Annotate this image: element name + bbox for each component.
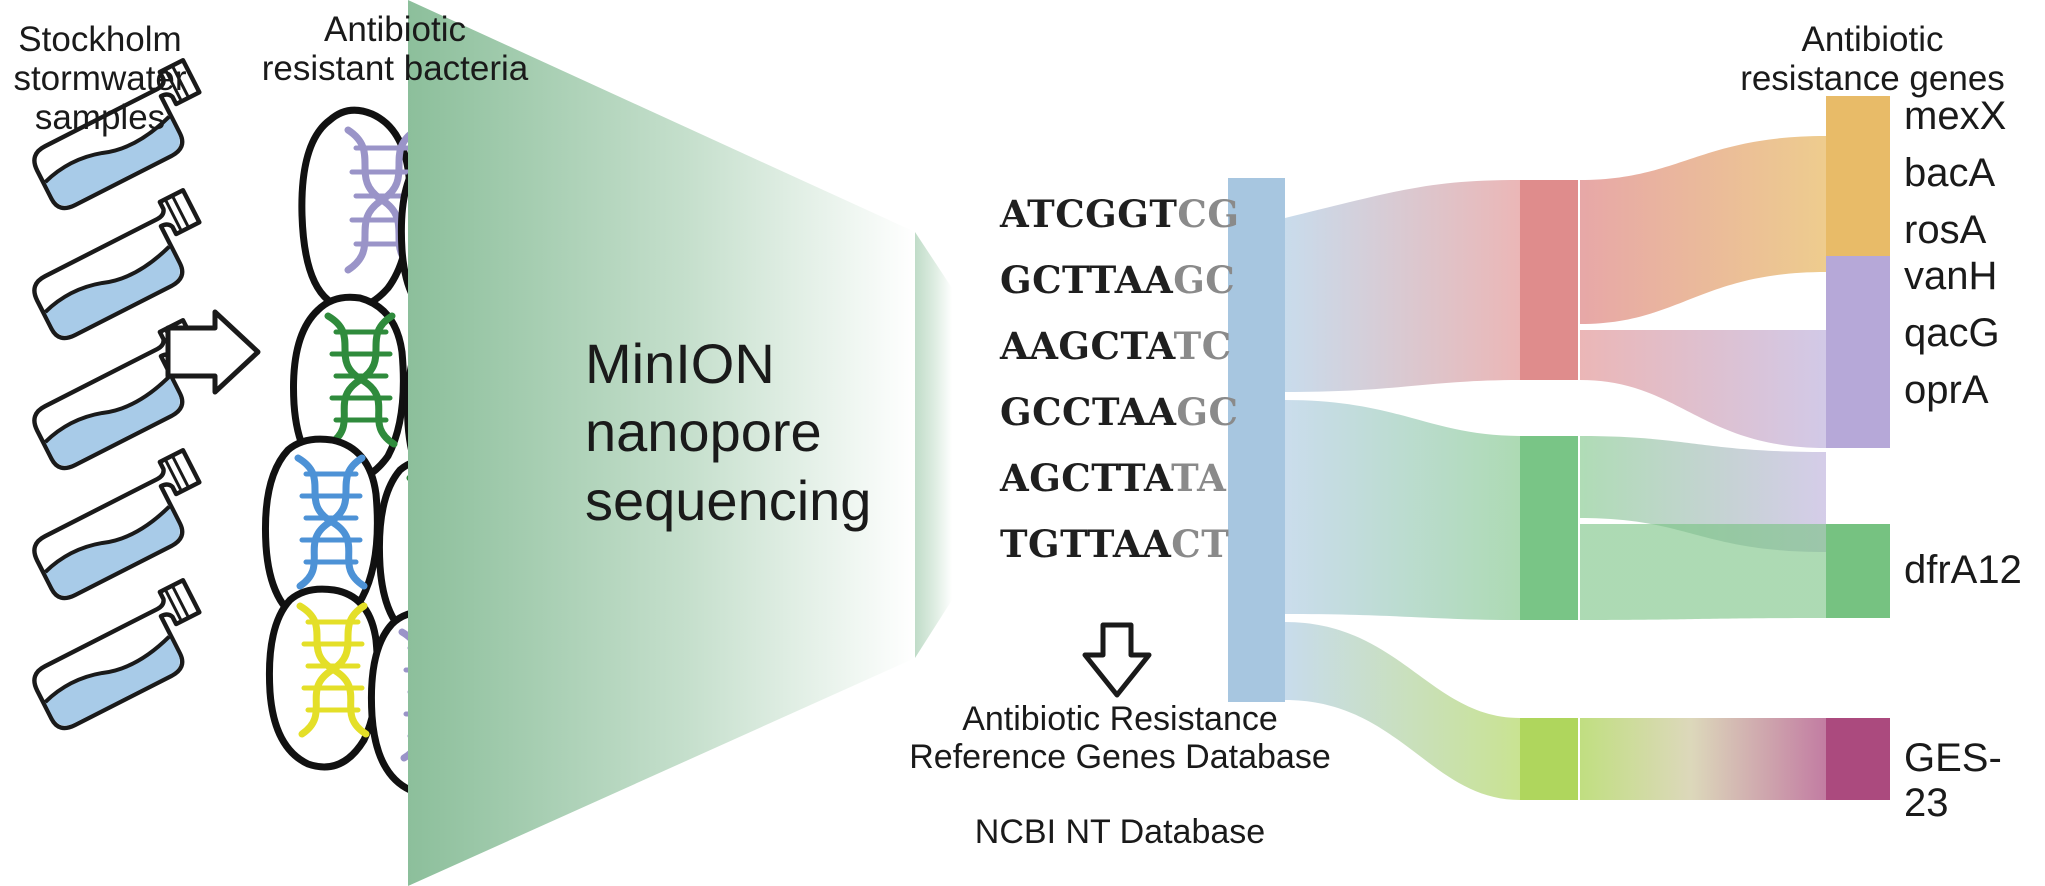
sequence-read-6: TGTTAACT [1000, 522, 1229, 566]
figure-canvas: Stockholm stormwater samples Antibiotic … [0, 0, 2045, 886]
sankey-target-node-vanH [1826, 256, 1890, 448]
database-arrow-icon [1085, 625, 1149, 695]
sankey-mid-node-yellowgreen [1520, 718, 1578, 800]
bottle-4 [23, 450, 220, 603]
read-unmatched-segment: TC [1174, 324, 1232, 368]
read-unmatched-segment: CT [1171, 522, 1229, 566]
read-matched-segment: TGTTAA [1000, 522, 1171, 566]
sequence-read-4: GCCTAAGC [1000, 390, 1238, 434]
sankey-source-node [1228, 178, 1285, 702]
read-matched-segment: GCCTAA [1000, 390, 1176, 434]
gene-GES-23-label: GES-23 [1904, 736, 2045, 826]
read-matched-segment: ATCGGT [1000, 192, 1177, 236]
sankey-mid-node-green [1520, 436, 1578, 620]
sequencer-label: MinION nanopore sequencing [585, 330, 915, 535]
bottle-5 [23, 580, 220, 733]
sequence-read-2: GCTTAAGC [1000, 258, 1235, 302]
sankey-target-node-mexX [1826, 96, 1890, 272]
sequence-read-3: AAGCTATC [1000, 324, 1232, 368]
read-unmatched-segment: GC [1176, 390, 1238, 434]
bacteria-label: Antibiotic resistant bacteria [230, 10, 560, 88]
bacterium-1 [302, 110, 416, 308]
flow-reads-to-mid-green [1285, 400, 1520, 620]
bacterium-7 [269, 589, 377, 767]
sequence-read-5: AGCTTATA [1000, 456, 1226, 500]
read-matched-segment: GCTTAA [1000, 258, 1173, 302]
sankey-target-node-dfrA12 [1826, 524, 1890, 618]
genes-heading-label: Antibiotic resistance genes [1700, 20, 2045, 98]
flow-mid-green-to-dfrA12 [1580, 524, 1826, 620]
flow-mid-red-to-vanH [1580, 330, 1826, 448]
database-secondary-label: NCBI NT Database [880, 813, 1360, 851]
sankey-target-node-GES23 [1826, 718, 1890, 800]
read-matched-segment: AGCTTA [1000, 456, 1171, 500]
flow-mid-red-to-mexX [1580, 136, 1826, 324]
gene-group-vanH-label: vanH qacG oprA [1904, 248, 2000, 418]
sample-bottles [23, 60, 220, 733]
gene-dfrA12-label: dfrA12 [1904, 548, 2022, 593]
sankey-mid-node-red [1520, 180, 1578, 380]
flow-mid-yellowgreen-to-GES23 [1580, 718, 1826, 800]
samples-label: Stockholm stormwater samples [0, 20, 200, 138]
read-unmatched-segment: TA [1171, 456, 1226, 500]
read-unmatched-segment: CG [1177, 192, 1239, 236]
gene-group-mexX-label: mexX bacA rosA [1904, 88, 2006, 258]
read-matched-segment: AAGCTA [1000, 324, 1174, 368]
flow-reads-to-mid-red [1285, 180, 1520, 392]
database-primary-label: Antibiotic Resistance Reference Genes Da… [880, 700, 1360, 776]
sequence-read-1: ATCGGTCG [1000, 192, 1239, 236]
bottle-2 [23, 190, 220, 343]
sankey-diagram [1228, 96, 1890, 800]
read-unmatched-segment: GC [1173, 258, 1235, 302]
